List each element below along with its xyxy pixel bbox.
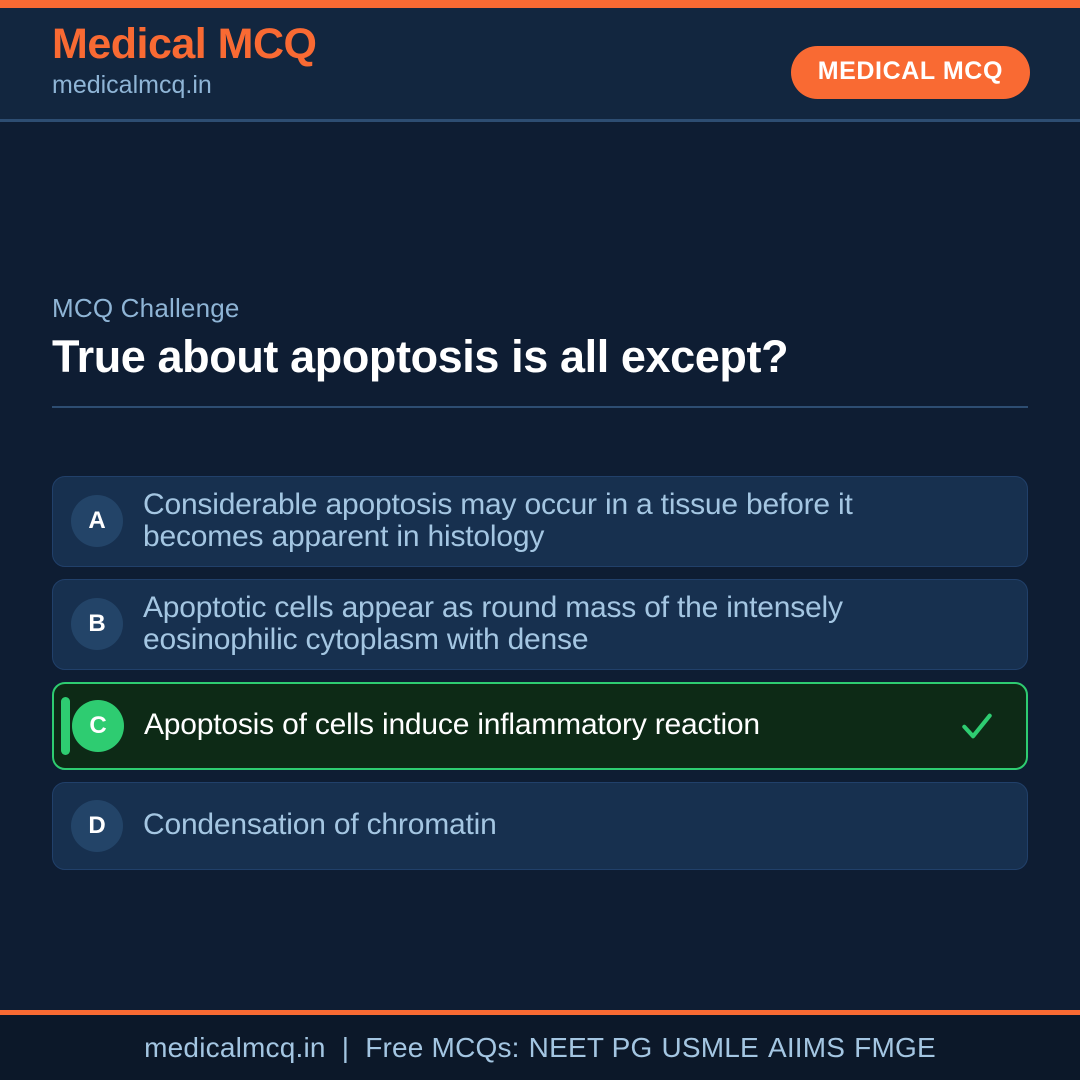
option-accent-bar: [61, 697, 70, 755]
check-icon: [958, 707, 996, 745]
option-letter-badge: B: [71, 598, 123, 650]
question-divider: [52, 406, 1028, 408]
option-text: Apoptotic cells appear as round mass of …: [143, 592, 957, 657]
footer-exam: FMGE: [845, 1032, 936, 1063]
brand-title: Medical MCQ: [52, 22, 317, 67]
option-letter-badge: D: [71, 800, 123, 852]
option-text: Considerable apoptosis may occur in a ti…: [143, 489, 957, 554]
brand-block: Medical MCQ medicalmcq.in: [52, 22, 317, 103]
footer-text: medicalmcq.in|Free MCQs:NEET PGUSMLEAIIM…: [144, 1032, 936, 1064]
footer-site: medicalmcq.in: [144, 1032, 326, 1063]
options-list: AConsiderable apoptosis may occur in a t…: [52, 476, 1028, 882]
header-badge: MEDICAL MCQ: [791, 46, 1030, 99]
brand-subtitle: medicalmcq.in: [52, 69, 317, 103]
question-block: MCQ Challenge True about apoptosis is al…: [52, 293, 1028, 408]
footer-label: Free MCQs:: [365, 1032, 519, 1063]
option-text: Apoptosis of cells induce inflammatory r…: [144, 709, 764, 741]
page-footer: medicalmcq.in|Free MCQs:NEET PGUSMLEAIIM…: [0, 1010, 1080, 1080]
main-content: MCQ Challenge True about apoptosis is al…: [0, 125, 1080, 1010]
question-title: True about apoptosis is all except?: [52, 330, 862, 384]
footer-exam: NEET PG: [520, 1032, 653, 1063]
footer-exam: AIIMS: [759, 1032, 845, 1063]
option-letter-badge: C: [72, 700, 124, 752]
footer-separator: |: [326, 1032, 365, 1063]
option-text: Condensation of chromatin: [143, 809, 501, 841]
question-eyebrow: MCQ Challenge: [52, 293, 1028, 324]
footer-exam: USMLE: [652, 1032, 758, 1063]
page-header: Medical MCQ medicalmcq.in MEDICAL MCQ: [0, 8, 1080, 122]
top-accent-bar: [0, 0, 1080, 8]
option-b[interactable]: BApoptotic cells appear as round mass of…: [52, 579, 1028, 670]
option-letter-badge: A: [71, 495, 123, 547]
option-a[interactable]: AConsiderable apoptosis may occur in a t…: [52, 476, 1028, 567]
footer-exam-list: NEET PGUSMLEAIIMSFMGE: [520, 1032, 936, 1063]
option-d[interactable]: DCondensation of chromatin: [52, 782, 1028, 870]
option-c[interactable]: CApoptosis of cells induce inflammatory …: [52, 682, 1028, 770]
